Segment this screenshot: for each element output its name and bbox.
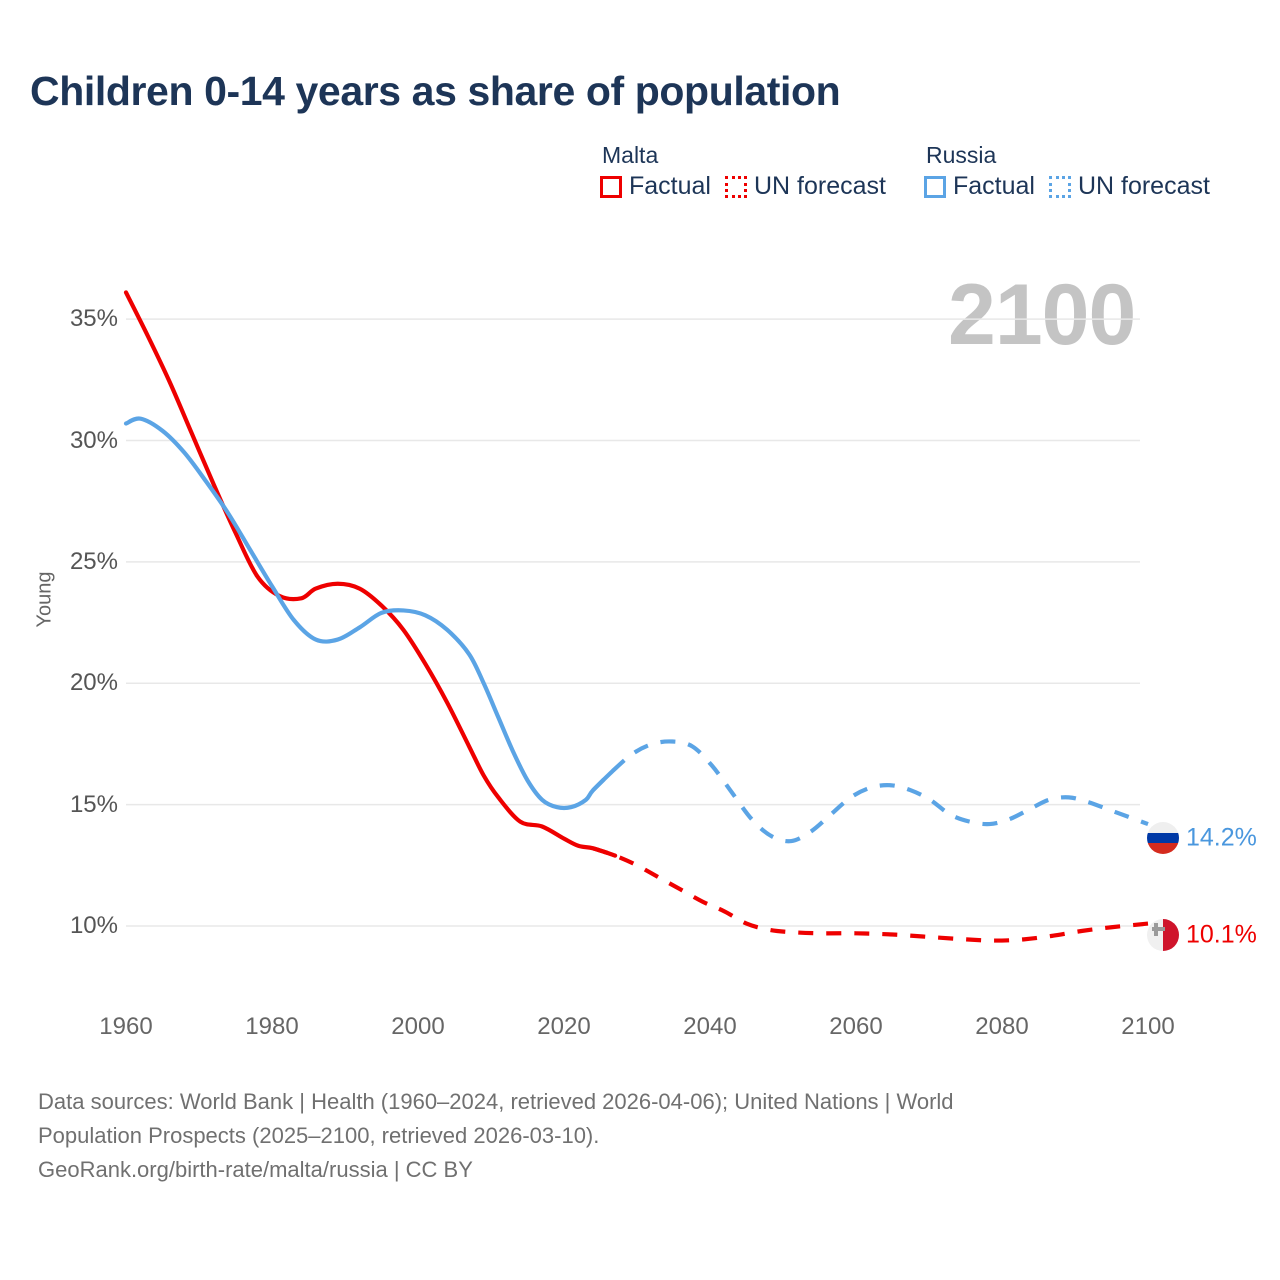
x-tick-label: 2000 bbox=[391, 1013, 444, 1041]
x-tick-label: 2020 bbox=[537, 1013, 590, 1041]
y-tick-label: 10% bbox=[46, 912, 118, 940]
y-tick-label: 35% bbox=[46, 305, 118, 333]
end-label-russia: 14.2% bbox=[1186, 824, 1257, 853]
x-tick-label: 1960 bbox=[99, 1013, 152, 1041]
series-line-factual-russia bbox=[126, 418, 613, 807]
footer-line-3[interactable]: GeoRank.org/birth-rate/malta/russia | CC… bbox=[38, 1153, 1218, 1187]
flag-malta-icon bbox=[1147, 919, 1179, 951]
chart-root: Children 0-14 years as share of populati… bbox=[0, 0, 1280, 1280]
x-tick-label: 2100 bbox=[1121, 1013, 1174, 1041]
x-tick-label: 1980 bbox=[245, 1013, 298, 1041]
y-tick-label: 15% bbox=[46, 791, 118, 819]
x-tick-label: 2040 bbox=[683, 1013, 736, 1041]
series-line-forecast-russia bbox=[593, 741, 1148, 841]
footer-line-1: Data sources: World Bank | Health (1960–… bbox=[38, 1085, 1218, 1119]
x-tick-label: 2080 bbox=[975, 1013, 1028, 1041]
x-tick-label: 2060 bbox=[829, 1013, 882, 1041]
y-tick-label: 25% bbox=[46, 548, 118, 576]
end-label-malta: 10.1% bbox=[1186, 921, 1257, 950]
footer-line-2: Population Prospects (2025–2100, retriev… bbox=[38, 1119, 1218, 1153]
y-tick-label: 30% bbox=[46, 427, 118, 455]
footer-sources: Data sources: World Bank | Health (1960–… bbox=[38, 1085, 1218, 1187]
series-line-factual-malta bbox=[126, 292, 615, 855]
y-tick-label: 20% bbox=[46, 669, 118, 697]
flag-russia-icon bbox=[1147, 822, 1179, 854]
